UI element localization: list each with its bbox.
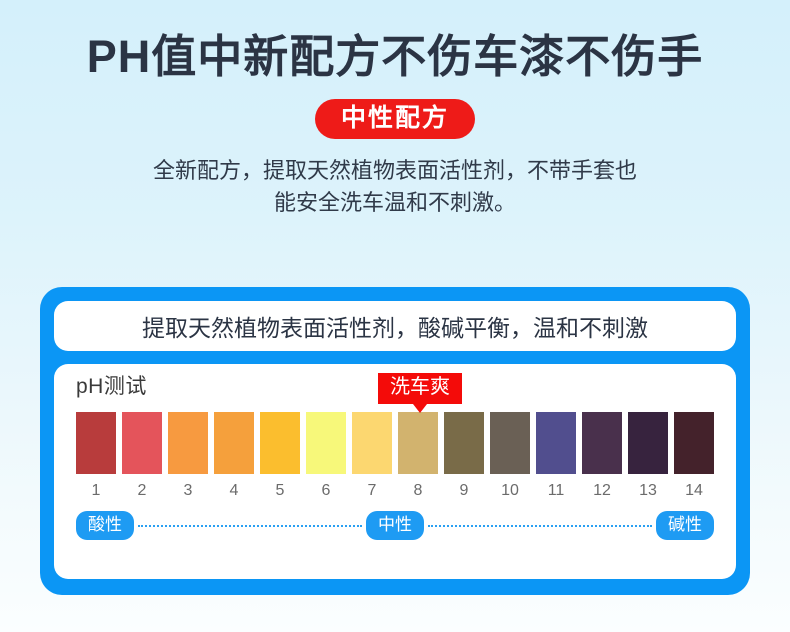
ph-strip-column: 14 xyxy=(674,412,714,499)
ph-strip-column: 13 xyxy=(628,412,668,499)
ph-strip-swatch xyxy=(582,412,622,474)
ph-strip-number: 4 xyxy=(214,483,254,499)
ph-marker: 洗车爽 xyxy=(378,373,462,413)
ph-strip-number: 7 xyxy=(352,483,392,499)
ph-range-legend: 酸性 中性 碱性 xyxy=(72,511,718,540)
ph-strip-column: 7 xyxy=(352,412,392,499)
ph-legend-acid: 酸性 xyxy=(76,511,134,540)
ph-marker-arrow-icon xyxy=(413,404,427,413)
ph-strip-number: 14 xyxy=(674,483,714,499)
ph-strip-column: 10 xyxy=(490,412,530,499)
ph-chart-title: pH测试 xyxy=(72,375,147,398)
card-banner-text: 提取天然植物表面活性剂，酸碱平衡，温和不刺激 xyxy=(142,309,648,343)
ph-strip-number: 2 xyxy=(122,483,162,499)
neutral-formula-badge: 中性配方 xyxy=(315,99,475,139)
ph-strip-column: 6 xyxy=(306,412,346,499)
ph-strip-swatch xyxy=(168,412,208,474)
ph-strip-swatch xyxy=(306,412,346,474)
ph-strip-number: 6 xyxy=(306,483,346,499)
badge-row: 中性配方 xyxy=(0,99,790,139)
ph-legend-neutral: 中性 xyxy=(366,511,424,540)
ph-strip-column: 3 xyxy=(168,412,208,499)
ph-strip-swatch xyxy=(628,412,668,474)
page-title: PH值中新配方不伤车漆不伤手 xyxy=(0,0,790,83)
ph-strip-swatch xyxy=(260,412,300,474)
card-banner: 提取天然植物表面活性剂，酸碱平衡，温和不刺激 xyxy=(54,301,736,351)
ph-strip-swatch xyxy=(674,412,714,474)
ph-strip-swatch xyxy=(352,412,392,474)
ph-strip-number: 5 xyxy=(260,483,300,499)
description-line-1: 全新配方，提取天然植物表面活性剂，不带手套也 xyxy=(70,155,720,187)
ph-strip-swatch xyxy=(490,412,530,474)
ph-legend-dots-left xyxy=(138,525,362,527)
ph-strip-column: 11 xyxy=(536,412,576,499)
ph-strip-number: 11 xyxy=(536,483,576,499)
ph-strip-swatch xyxy=(76,412,116,474)
description-block: 全新配方，提取天然植物表面活性剂，不带手套也 能安全洗车温和不刺激。 xyxy=(0,155,790,219)
ph-strip-number: 1 xyxy=(76,483,116,499)
ph-strip-number: 10 xyxy=(490,483,530,499)
ph-strip-number: 8 xyxy=(398,483,438,499)
ph-card: 提取天然植物表面活性剂，酸碱平衡，温和不刺激 pH测试 洗车爽 12345678… xyxy=(40,287,750,595)
ph-strip-swatch xyxy=(122,412,162,474)
description-line-2: 能安全洗车温和不刺激。 xyxy=(70,187,720,219)
ph-strip-scale: 1234567891011121314 xyxy=(72,412,718,499)
ph-legend-alkaline: 碱性 xyxy=(656,511,714,540)
ph-strip-column: 12 xyxy=(582,412,622,499)
ph-strip-column: 5 xyxy=(260,412,300,499)
ph-strip-column: 4 xyxy=(214,412,254,499)
ph-strip-column: 8 xyxy=(398,412,438,499)
ph-strip-swatch xyxy=(398,412,438,474)
ph-strip-swatch xyxy=(214,412,254,474)
ph-strip-number: 3 xyxy=(168,483,208,499)
ph-strip-column: 2 xyxy=(122,412,162,499)
ph-strip-column: 1 xyxy=(76,412,116,499)
ph-strip-number: 12 xyxy=(582,483,622,499)
ph-legend-dots-right xyxy=(428,525,652,527)
ph-marker-label: 洗车爽 xyxy=(378,373,462,404)
ph-strip-column: 9 xyxy=(444,412,484,499)
ph-chart-panel: pH测试 洗车爽 1234567891011121314 酸性 中性 碱性 xyxy=(54,364,736,579)
promo-page: PH值中新配方不伤车漆不伤手 中性配方 全新配方，提取天然植物表面活性剂，不带手… xyxy=(0,0,790,632)
ph-strip-swatch xyxy=(536,412,576,474)
ph-strip-number: 13 xyxy=(628,483,668,499)
ph-strip-number: 9 xyxy=(444,483,484,499)
ph-strip-swatch xyxy=(444,412,484,474)
